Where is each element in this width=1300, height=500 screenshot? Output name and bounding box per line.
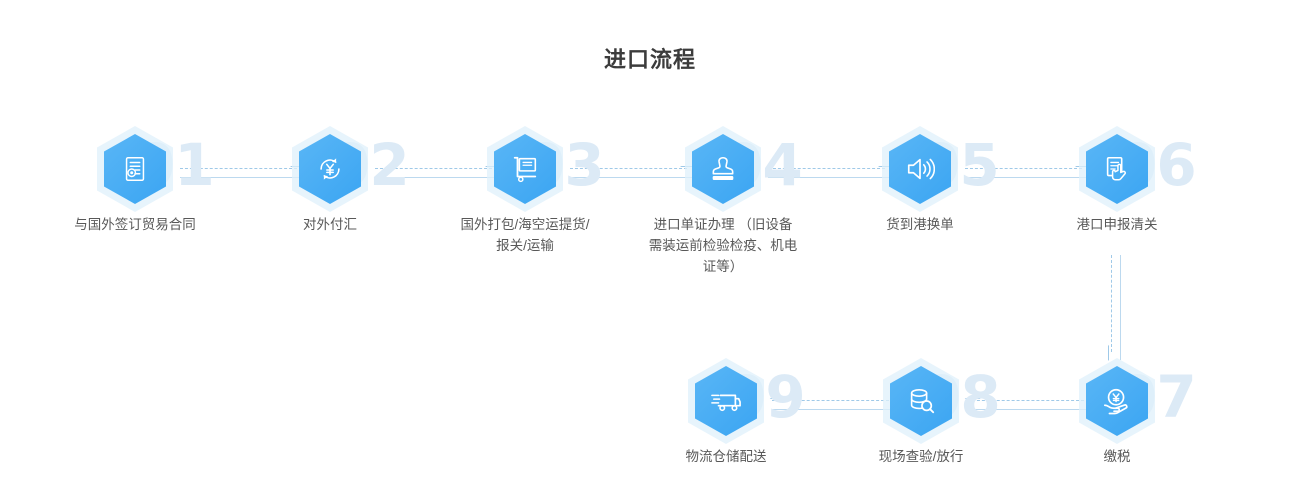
hand-declaration-form-icon — [1102, 154, 1132, 184]
step-label: 对外付汇 — [230, 214, 430, 235]
step-badge: 05 — [820, 130, 1020, 208]
step-badge: 04 — [623, 130, 823, 208]
step-label: 与国外签订贸易合同 — [35, 214, 235, 235]
step-label: 货到港换单 — [820, 214, 1020, 235]
contract-document-icon — [120, 154, 150, 184]
step-label: 国外打包/海空运提货/ 报关/运输 — [425, 214, 625, 256]
rubber-stamp-icon — [708, 154, 738, 184]
speaker-announce-icon — [905, 154, 935, 184]
database-search-icon — [906, 386, 936, 416]
step-label: 物流仓储配送 — [626, 446, 826, 467]
flow-step-05[interactable]: 05 货到港换单 — [820, 130, 1020, 235]
flow-step-03[interactable]: 03 国外打包/海空运提货/ 报关/运输 — [425, 130, 625, 256]
flow-step-02[interactable]: 02 对外付汇 — [230, 130, 430, 235]
flow-step-04[interactable]: 04 进口单证办理 （旧设备 需装运前检验检疫、机电 证等） — [623, 130, 823, 277]
step-badge: 07 — [1017, 362, 1217, 440]
flow-step-07[interactable]: 07 缴税 — [1017, 362, 1217, 467]
step-badge: 08 — [821, 362, 1021, 440]
page-title: 进口流程 — [0, 42, 1300, 74]
connector-dashed-line — [1111, 255, 1112, 352]
step-badge: 09 — [626, 362, 826, 440]
step-badge: 01 — [35, 130, 235, 208]
import-process-flowchart: 进口流程 — [0, 0, 1300, 500]
step-label: 进口单证办理 （旧设备 需装运前检验检疫、机电 证等） — [623, 214, 823, 277]
step-label: 缴税 — [1017, 446, 1217, 467]
currency-exchange-yuan-icon — [315, 154, 345, 184]
step-badge: 06 — [1017, 130, 1217, 208]
step-label: 港口申报清关 — [1017, 214, 1217, 235]
hand-truck-cart-icon — [510, 154, 540, 184]
flow-step-09[interactable]: 09 物流仓储配送 — [626, 362, 826, 467]
step-label: 现场查验/放行 — [821, 446, 1021, 467]
flow-step-01[interactable]: 01 与国外签订贸易合同 — [35, 130, 235, 235]
flow-step-08[interactable]: 08 现场查验/放行 — [821, 362, 1021, 467]
step-badge: 02 — [230, 130, 430, 208]
flow-step-06[interactable]: 06 港口申报清关 — [1017, 130, 1217, 235]
step-badge: 03 — [425, 130, 625, 208]
connector-06-to-07 — [1107, 255, 1125, 360]
connector-solid-line — [1120, 255, 1121, 360]
hand-holding-coin-icon — [1102, 386, 1132, 416]
delivery-truck-icon — [711, 386, 741, 416]
